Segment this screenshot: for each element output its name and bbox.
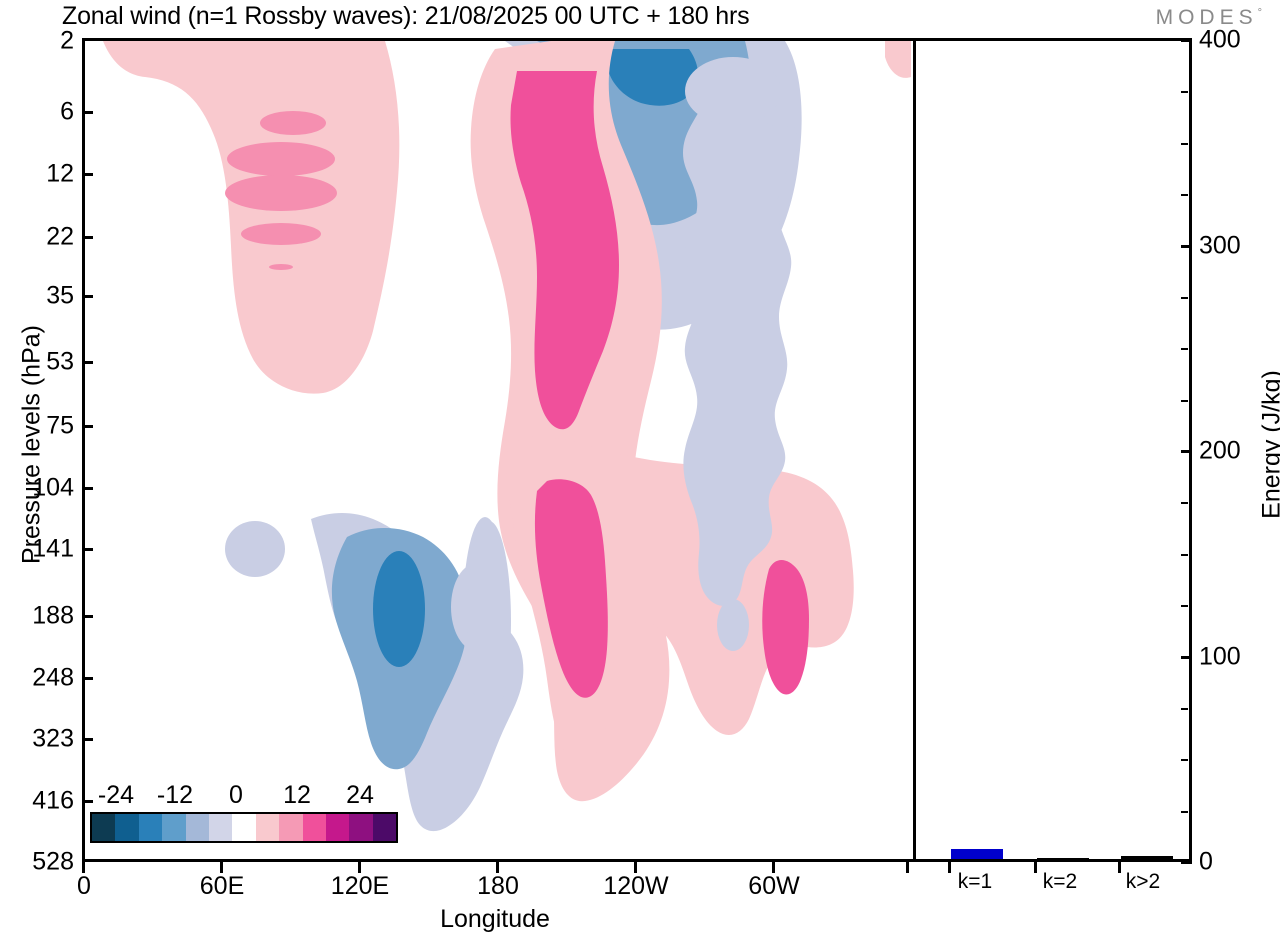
- y2-tick: [1181, 861, 1192, 864]
- cool-lobe-3a: [225, 521, 285, 577]
- x-tick-label: 60W: [748, 872, 799, 901]
- warm-core-1b: [227, 142, 335, 176]
- y-tick-label: 528: [32, 848, 74, 877]
- y-tick-label: 22: [46, 223, 74, 252]
- colorbar-swatch-1: [115, 814, 138, 841]
- cool-strip-1: [467, 521, 511, 721]
- y2-minor-tick: [1181, 348, 1188, 350]
- colorbar-tick-label: 24: [346, 781, 374, 810]
- y-tick-label: 35: [46, 282, 74, 311]
- colorbar: [90, 812, 398, 843]
- y2-minor-tick: [1181, 502, 1188, 504]
- warm-core-1d: [241, 223, 321, 245]
- colorbar-swatch-9: [303, 814, 326, 841]
- y-tick-label: 416: [32, 787, 74, 816]
- plot-frame: [82, 38, 1192, 862]
- y2-tick-label: 100: [1199, 643, 1241, 672]
- energy-bar-label-kgt2: k>2: [1126, 870, 1160, 894]
- colorbar-swatch-8: [279, 814, 302, 841]
- y2-minor-tick: [1181, 297, 1188, 299]
- cool-lobe-2a: [685, 57, 781, 125]
- y-tick-label: 53: [46, 348, 74, 377]
- y-tick: [82, 361, 93, 364]
- colorbar-swatch-5: [209, 814, 232, 841]
- warm-core-3b: [762, 560, 809, 694]
- warm-core-1e: [269, 264, 293, 270]
- energy-bar-k2: [1037, 858, 1089, 859]
- y2-minor-tick: [1181, 143, 1188, 145]
- y2-minor-tick: [1181, 708, 1188, 710]
- y2-tick-label: 200: [1199, 437, 1241, 466]
- colorbar-swatch-12: [373, 814, 396, 841]
- y2-tick-label: 0: [1199, 848, 1213, 877]
- y2-tick: [1181, 245, 1192, 248]
- k-tick: [1118, 862, 1121, 873]
- colorbar-swatch-11: [349, 814, 372, 841]
- brand-mark-icon: °: [1258, 7, 1262, 19]
- energy-bar-kgt2: [1121, 856, 1173, 859]
- cool-core-3b: [373, 551, 425, 667]
- y-tick: [82, 425, 93, 428]
- y-tick-label: 323: [32, 725, 74, 754]
- x-tick-label: 120W: [603, 872, 668, 901]
- y-tick-label: 2: [60, 27, 74, 56]
- y-tick: [82, 487, 93, 490]
- y-tick: [82, 738, 93, 741]
- y-tick-label: 6: [60, 98, 74, 127]
- k-tick: [1034, 862, 1037, 873]
- y2-minor-tick: [1181, 554, 1188, 556]
- page-title: Zonal wind (n=1 Rossby waves): 21/08/202…: [62, 2, 749, 31]
- y-axis-title: Pressure levels (hPa): [18, 245, 47, 645]
- warm-region-1: [103, 41, 399, 394]
- y-tick: [82, 111, 93, 114]
- warm-region-4: [885, 41, 911, 78]
- y-tick-label: 248: [32, 664, 74, 693]
- y-tick-label: 12: [46, 160, 74, 189]
- y-tick: [82, 295, 93, 298]
- x-tick-label: 60E: [200, 872, 244, 901]
- x-tick-label: 120E: [331, 872, 389, 901]
- y-tick: [82, 548, 93, 551]
- x-tick-label: 0: [77, 872, 91, 901]
- y-tick: [82, 615, 93, 618]
- energy-bar-k1: [951, 849, 1003, 859]
- colorbar-swatch-0: [92, 814, 115, 841]
- colorbar-tick-label: -12: [157, 781, 193, 810]
- contour-svg: [85, 41, 1189, 859]
- energy-bar-label-k1: k=1: [958, 870, 992, 894]
- y-tick: [82, 173, 93, 176]
- y2-minor-tick: [1181, 759, 1188, 761]
- x-tick: [906, 862, 909, 873]
- colorbar-swatch-2: [139, 814, 162, 841]
- x-tick-label: 180: [477, 872, 519, 901]
- y2-minor-tick: [1181, 91, 1188, 93]
- y2-minor-tick: [1181, 400, 1188, 402]
- warm-core-1c: [225, 175, 337, 211]
- y-tick: [82, 677, 93, 680]
- y2-axis-title: Energy (J/kg): [1258, 245, 1280, 645]
- cool-lobe-2b: [717, 599, 749, 651]
- y-tick: [82, 236, 93, 239]
- y2-tick: [1181, 450, 1192, 453]
- colorbar-swatch-4: [186, 814, 209, 841]
- contour-field: [85, 41, 1189, 859]
- y2-tick-label: 300: [1199, 232, 1241, 261]
- panel-divider: [913, 41, 916, 859]
- y2-minor-tick: [1181, 811, 1188, 813]
- colorbar-swatch-7: [256, 814, 279, 841]
- colorbar-swatch-3: [162, 814, 185, 841]
- colorbar-tick-label: -24: [98, 781, 134, 810]
- y-tick-label: 75: [46, 412, 74, 441]
- y-tick: [82, 800, 93, 803]
- k-tick: [948, 862, 951, 873]
- y2-minor-tick: [1181, 605, 1188, 607]
- colorbar-swatch-10: [326, 814, 349, 841]
- y2-tick-label: 400: [1199, 26, 1241, 55]
- y2-tick: [1181, 656, 1192, 659]
- y2-minor-tick: [1181, 194, 1188, 196]
- colorbar-tick-label: 0: [229, 781, 243, 810]
- energy-bar-label-k2: k=2: [1043, 870, 1077, 894]
- colorbar-tick-label: 12: [283, 781, 311, 810]
- warm-core-1a: [260, 111, 326, 135]
- y2-tick: [1181, 39, 1192, 42]
- colorbar-swatch-6: [232, 814, 255, 841]
